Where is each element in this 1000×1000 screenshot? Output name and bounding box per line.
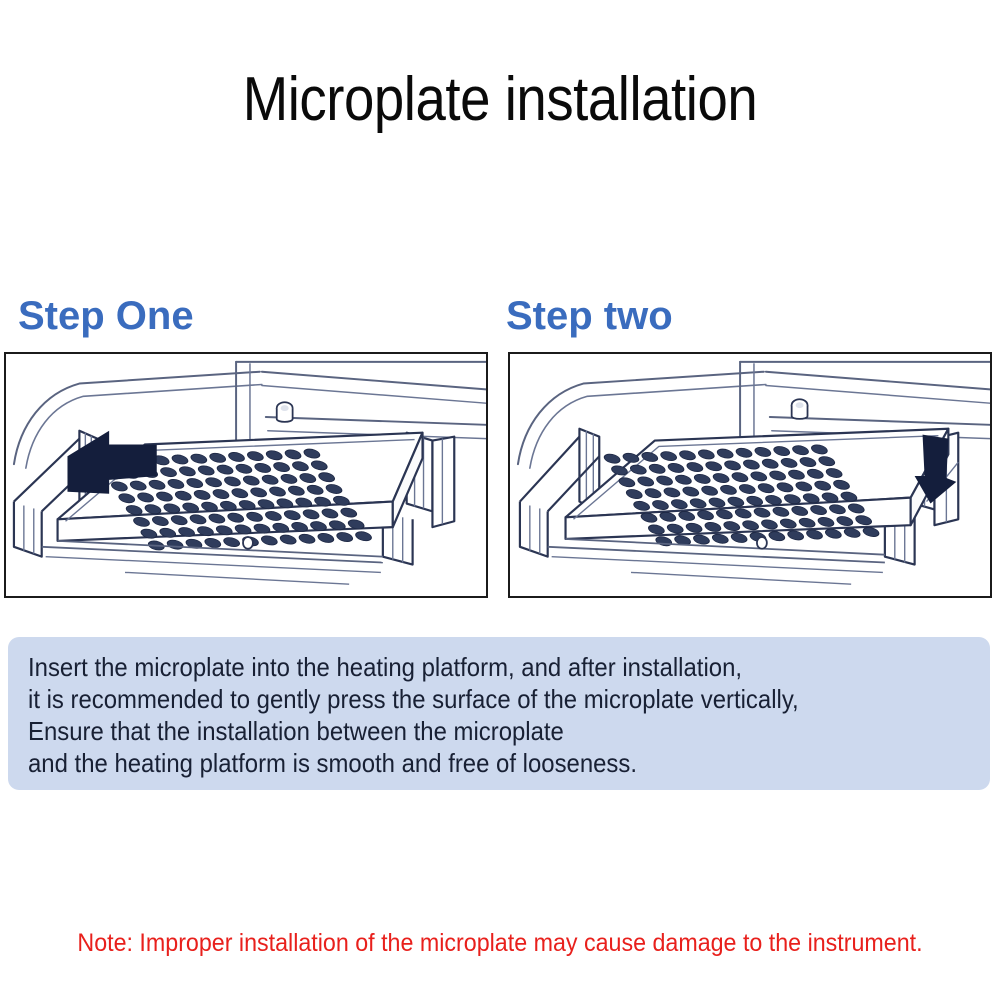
chassis-screw xyxy=(757,537,767,549)
instruction-line-3: Ensure that the installation between the… xyxy=(28,715,913,747)
knob xyxy=(792,399,808,419)
instruction-line-4: and the heating platform is smooth and f… xyxy=(28,747,913,779)
instruction-line-1: Insert the microplate into the heating p… xyxy=(28,651,913,683)
instruction-panel: Insert the microplate into the heating p… xyxy=(8,637,990,790)
knob xyxy=(277,402,293,422)
warning-note: Note: Improper installation of the micro… xyxy=(35,928,965,958)
page-title: Microplate installation xyxy=(60,62,940,138)
step-one-heading: Step One xyxy=(18,293,194,339)
instruction-line-2: it is recommended to gently press the su… xyxy=(28,683,913,715)
step-two-heading: Step two xyxy=(506,293,673,339)
step-two-drawing xyxy=(510,354,990,596)
step-one-drawing xyxy=(6,354,486,596)
chassis-screw xyxy=(243,537,253,549)
step-one-illustration xyxy=(4,352,488,598)
step-two-illustration xyxy=(508,352,992,598)
